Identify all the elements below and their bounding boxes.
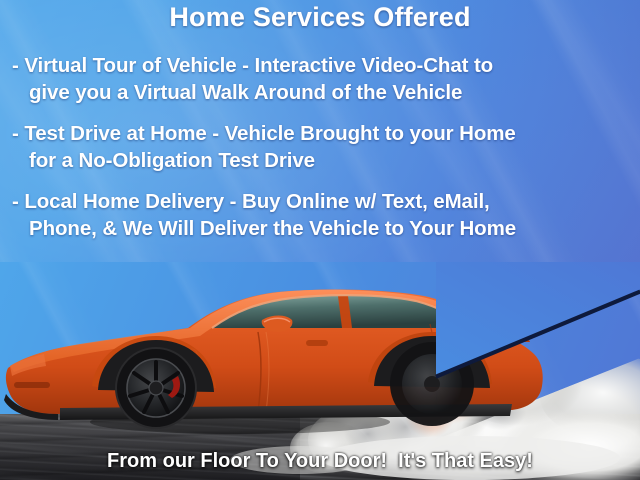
bullet-line-2: Phone, & We Will Deliver the Vehicle to …: [12, 215, 630, 242]
bullet-line-1: - Test Drive at Home - Vehicle Brought t…: [12, 122, 516, 145]
tagline: From our Floor To Your Door! It's That E…: [0, 449, 640, 473]
services-list: - Virtual Tour of Vehicle - Interactive …: [12, 52, 630, 256]
promo-banner: Home Services Offered - Virtual Tour of …: [0, 0, 640, 480]
bullet-line-1: - Virtual Tour of Vehicle - Interactive …: [12, 54, 493, 77]
hero-photo: [0, 262, 640, 480]
page-title: Home Services Offered: [0, 2, 640, 32]
bullet-line-1: - Local Home Delivery - Buy Online w/ Te…: [12, 190, 490, 213]
list-item: - Test Drive at Home - Vehicle Brought t…: [12, 120, 630, 174]
bullet-line-2: give you a Virtual Walk Around of the Ve…: [12, 79, 630, 106]
list-item: - Local Home Delivery - Buy Online w/ Te…: [12, 188, 630, 242]
bullet-line-2: for a No-Obligation Test Drive: [12, 147, 630, 174]
list-item: - Virtual Tour of Vehicle - Interactive …: [12, 52, 630, 106]
